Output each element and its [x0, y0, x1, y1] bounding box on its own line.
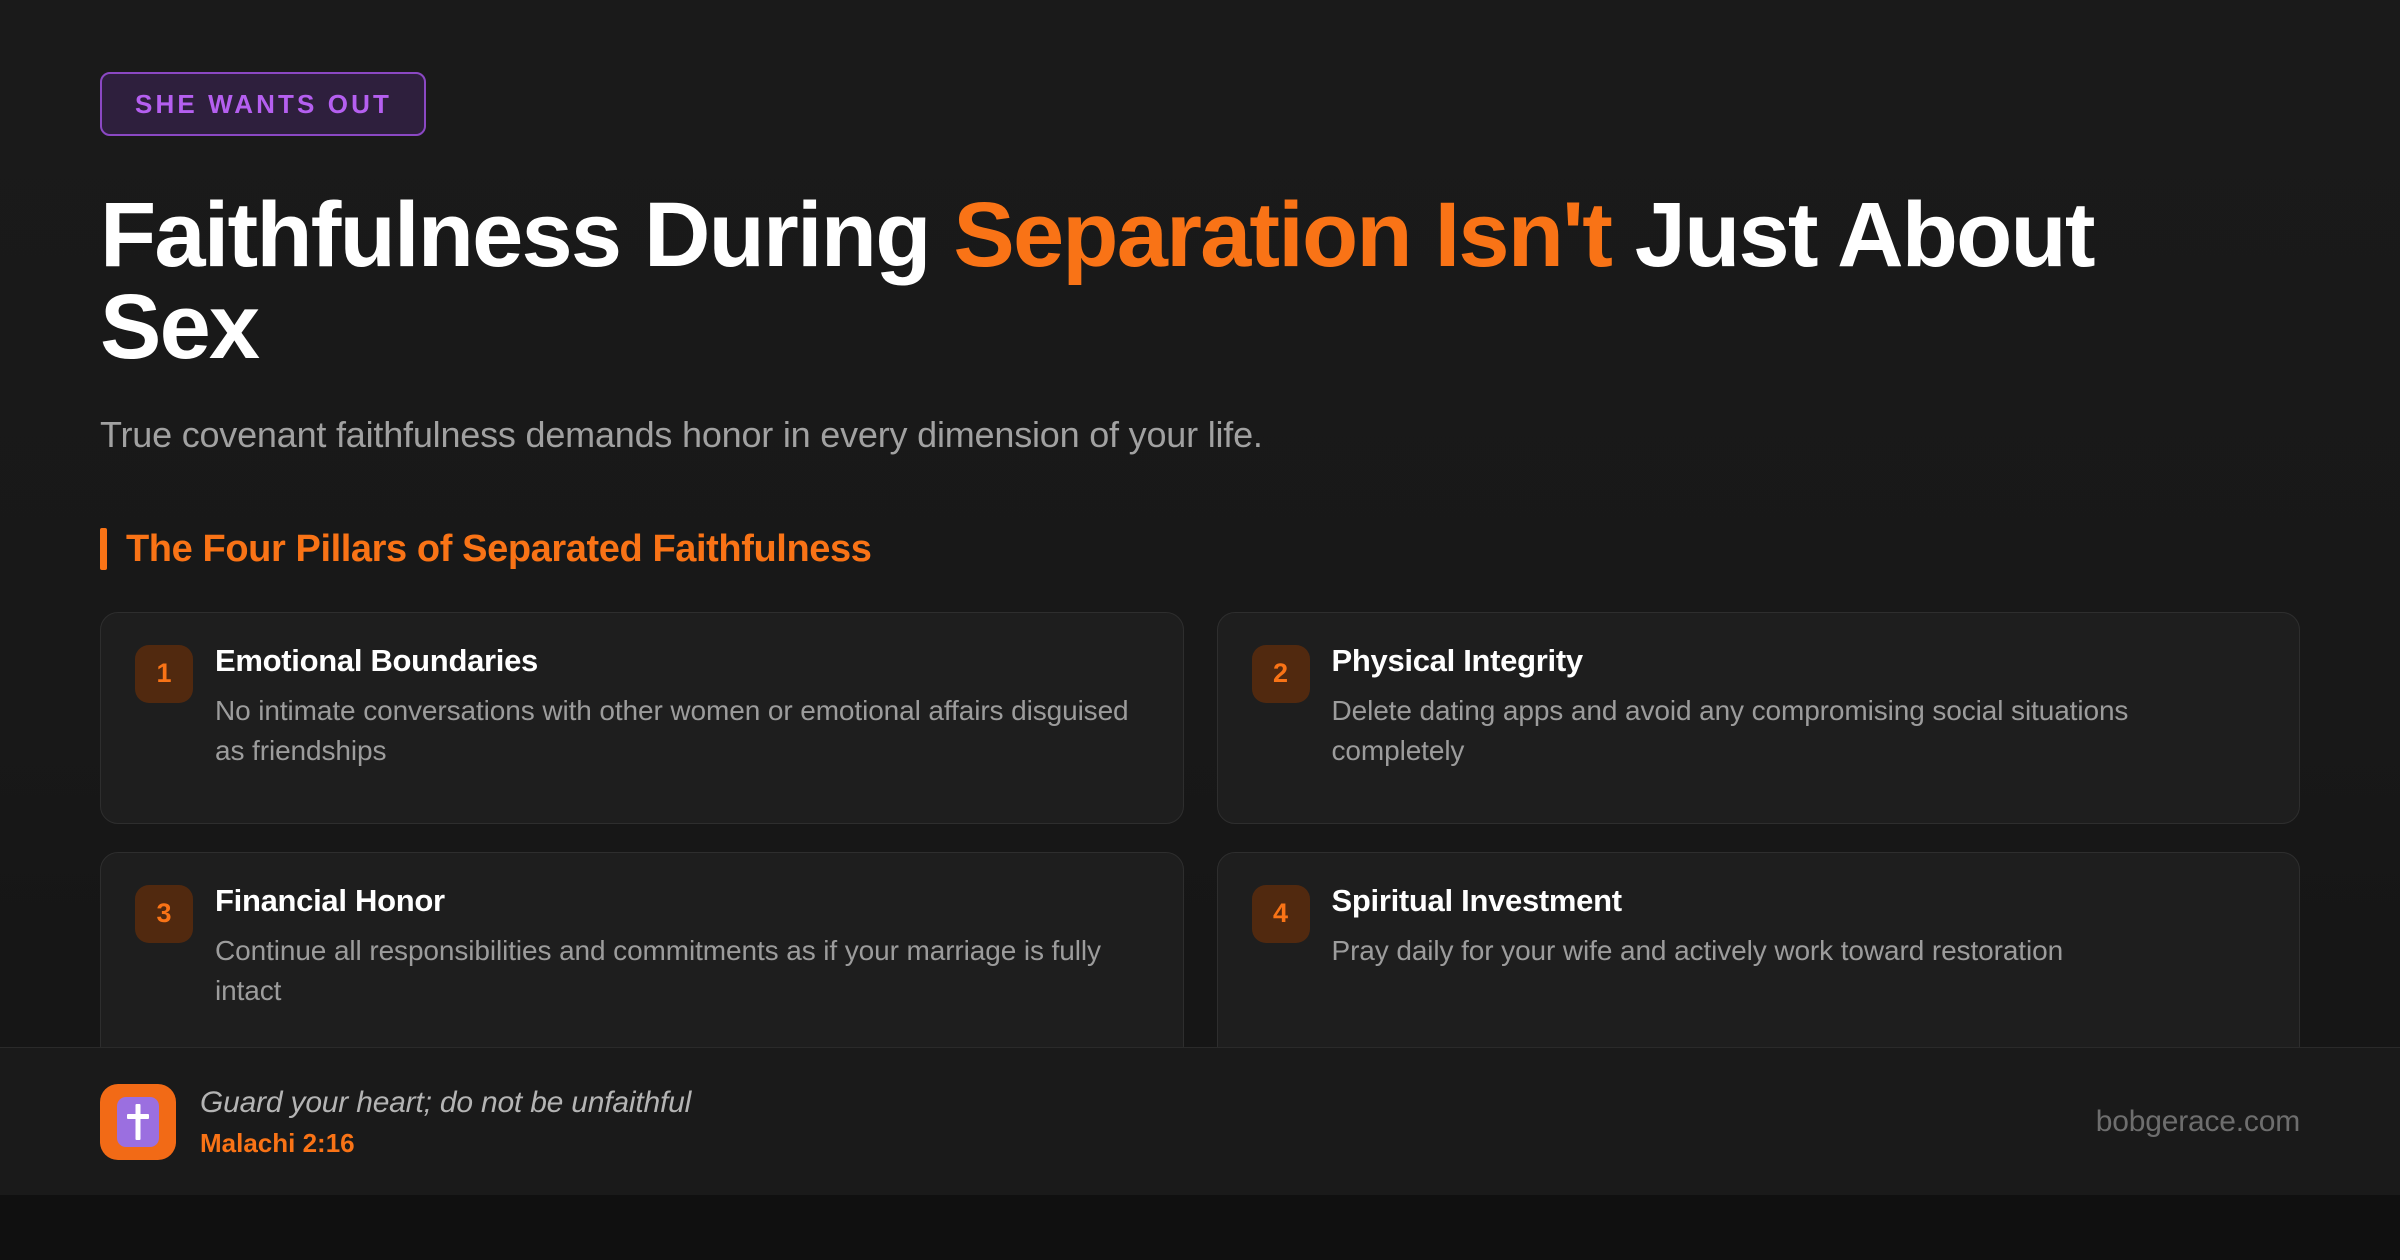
pillar-description: Delete dating apps and avoid any comprom…	[1332, 691, 2266, 771]
bottom-strip	[0, 1195, 2400, 1260]
page-subtitle: True covenant faithfulness demands honor…	[100, 411, 2300, 460]
pillar-title: Physical Integrity	[1332, 643, 2266, 679]
pillar-description: Continue all responsibilities and commit…	[215, 931, 1149, 1011]
pillar-card-header: 2 Physical Integrity Delete dating apps …	[1252, 643, 2266, 771]
footer-verse-group: Guard your heart; do not be unfaithful M…	[100, 1084, 691, 1160]
eyebrow-badge: SHE WANTS OUT	[100, 72, 426, 136]
pillar-card: 4 Spiritual Investment Pray daily for yo…	[1217, 852, 2301, 1064]
section-heading: The Four Pillars of Separated Faithfulne…	[100, 528, 2300, 570]
pillar-card-header: 1 Emotional Boundaries No intimate conve…	[135, 643, 1149, 771]
pillar-card: 3 Financial Honor Continue all responsib…	[100, 852, 1184, 1064]
pillar-description: No intimate conversations with other wom…	[215, 691, 1149, 771]
verse-block: Guard your heart; do not be unfaithful M…	[200, 1084, 691, 1159]
pillar-title: Spiritual Investment	[1332, 883, 2266, 919]
pillar-card-body: Financial Honor Continue all responsibil…	[215, 883, 1149, 1011]
pillars-grid: 1 Emotional Boundaries No intimate conve…	[100, 612, 2300, 1064]
section-accent-bar	[100, 528, 107, 570]
cross-icon	[100, 1084, 176, 1160]
page-title: Faithfulness During Separation Isn't Jus…	[100, 189, 2220, 373]
pillar-card-header: 3 Financial Honor Continue all responsib…	[135, 883, 1149, 1011]
slide-root: SHE WANTS OUT Faithfulness During Separa…	[0, 0, 2400, 1260]
verse-reference: Malachi 2:16	[200, 1128, 691, 1159]
pillar-card-body: Physical Integrity Delete dating apps an…	[1332, 643, 2266, 771]
pillar-number-badge: 1	[135, 645, 193, 703]
pillar-number-badge: 3	[135, 885, 193, 943]
headline-part-1: Faithfulness During	[100, 184, 953, 286]
footer-bar: Guard your heart; do not be unfaithful M…	[0, 1047, 2400, 1195]
pillar-number-badge: 4	[1252, 885, 1310, 943]
pillar-description: Pray daily for your wife and actively wo…	[1332, 931, 2266, 971]
pillar-title: Financial Honor	[215, 883, 1149, 919]
verse-text: Guard your heart; do not be unfaithful	[200, 1084, 691, 1122]
pillar-card: 1 Emotional Boundaries No intimate conve…	[100, 612, 1184, 824]
headline-accent: Separation Isn't	[953, 184, 1611, 286]
pillar-number-badge: 2	[1252, 645, 1310, 703]
cross-icon-glyph	[117, 1097, 159, 1147]
site-url: bobgerace.com	[2096, 1105, 2300, 1139]
pillar-card-body: Spiritual Investment Pray daily for your…	[1332, 883, 2266, 971]
section-heading-label: The Four Pillars of Separated Faithfulne…	[126, 530, 871, 568]
pillar-card-body: Emotional Boundaries No intimate convers…	[215, 643, 1149, 771]
pillar-card: 2 Physical Integrity Delete dating apps …	[1217, 612, 2301, 824]
pillar-card-header: 4 Spiritual Investment Pray daily for yo…	[1252, 883, 2266, 971]
eyebrow-badge-label: SHE WANTS OUT	[135, 89, 392, 119]
pillar-title: Emotional Boundaries	[215, 643, 1149, 679]
